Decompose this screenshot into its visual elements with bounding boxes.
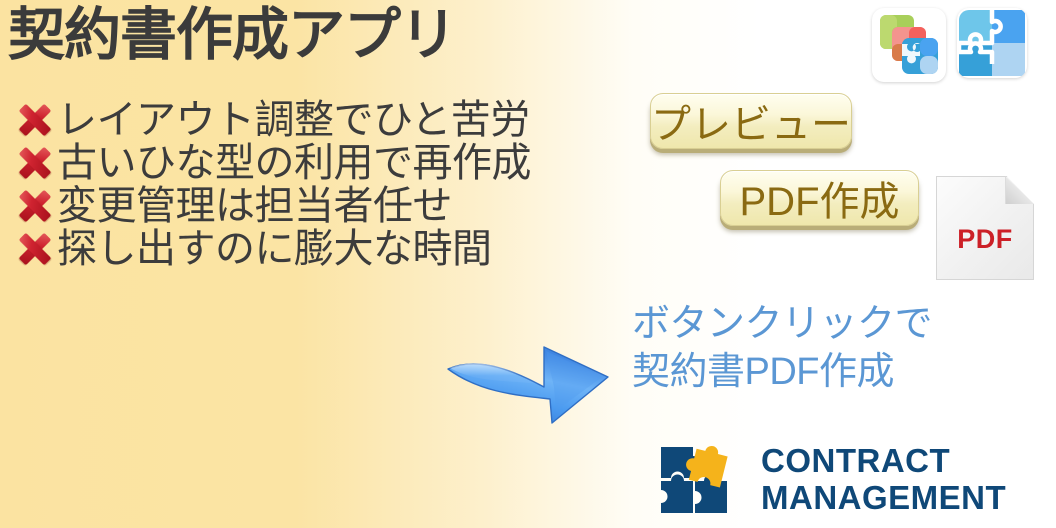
brand-wordmark: CONTRACT MANAGEMENT <box>761 443 1006 517</box>
puzzle-logo-icon <box>657 437 749 523</box>
page-title: 契約書作成アプリ <box>8 2 456 69</box>
list-item: 古いひな型の利用で再作成 <box>18 141 531 184</box>
puzzle-logo-graphic <box>657 437 749 523</box>
preview-button-label: プレビュー <box>651 92 851 150</box>
preview-button[interactable]: プレビュー <box>650 93 852 149</box>
slide-canvas: 契約書作成アプリ レイアウト調整でひと苦労 古いひな型の利用で再作成 変更管理は… <box>0 0 1056 528</box>
brand-logo: CONTRACT MANAGEMENT <box>657 437 1006 523</box>
pdf-file-icon: PDF <box>936 176 1034 280</box>
blue-puzzle-app-icon[interactable] <box>957 8 1027 78</box>
list-item-label: レイアウト調整でひと苦労 <box>57 100 530 140</box>
cta-caption: ボタンクリックで 契約書PDF作成 <box>632 300 932 397</box>
red-x-icon <box>18 103 52 137</box>
curved-blue-arrow-graphic <box>440 325 620 425</box>
list-item-label: 探し出すのに膨大な時間 <box>57 229 492 269</box>
list-item: 探し出すのに膨大な時間 <box>18 227 531 270</box>
list-item-label: 古いひな型の利用で再作成 <box>57 143 531 183</box>
curved-blue-arrow <box>440 325 620 425</box>
pdf-file-label: PDF <box>936 224 1034 255</box>
stacked-puzzle-app-icon[interactable] <box>872 8 946 82</box>
stacked-puzzle-icon-graphic <box>872 8 946 82</box>
pdf-create-button[interactable]: PDF作成 <box>720 170 919 226</box>
blue-puzzle-icon-graphic <box>957 8 1027 78</box>
list-item: レイアウト調整でひと苦労 <box>18 98 531 141</box>
red-x-icon <box>18 189 52 223</box>
pdf-create-button-label: PDF作成 <box>740 169 900 227</box>
list-item: 変更管理は担当者任せ <box>18 184 531 227</box>
list-item-label: 変更管理は担当者任せ <box>57 186 452 226</box>
problem-list: レイアウト調整でひと苦労 古いひな型の利用で再作成 変更管理は担当者任せ 探し出… <box>18 98 531 270</box>
red-x-icon <box>18 232 52 266</box>
red-x-icon <box>18 146 52 180</box>
